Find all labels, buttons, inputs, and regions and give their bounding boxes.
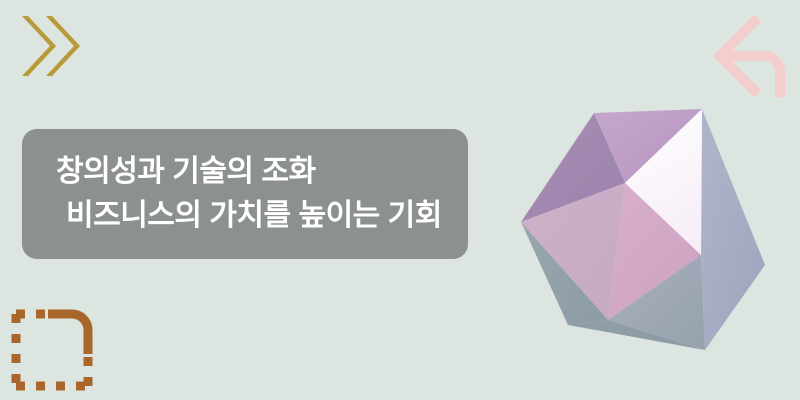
- headline-line-2: 비즈니스의 가치를 높이는 기회: [48, 194, 442, 238]
- double-chevron-right-icon: [18, 12, 98, 80]
- icosahedron-icon: [505, 85, 785, 375]
- headline-banner: 창의성과 기술의 조화 비즈니스의 가치를 높이는 기회: [22, 129, 468, 259]
- poster-canvas: 창의성과 기술의 조화 비즈니스의 가치를 높이는 기회: [0, 0, 800, 400]
- dashed-corner-bracket-icon: [10, 308, 94, 392]
- headline-line-1: 창의성과 기술의 조화: [48, 150, 442, 194]
